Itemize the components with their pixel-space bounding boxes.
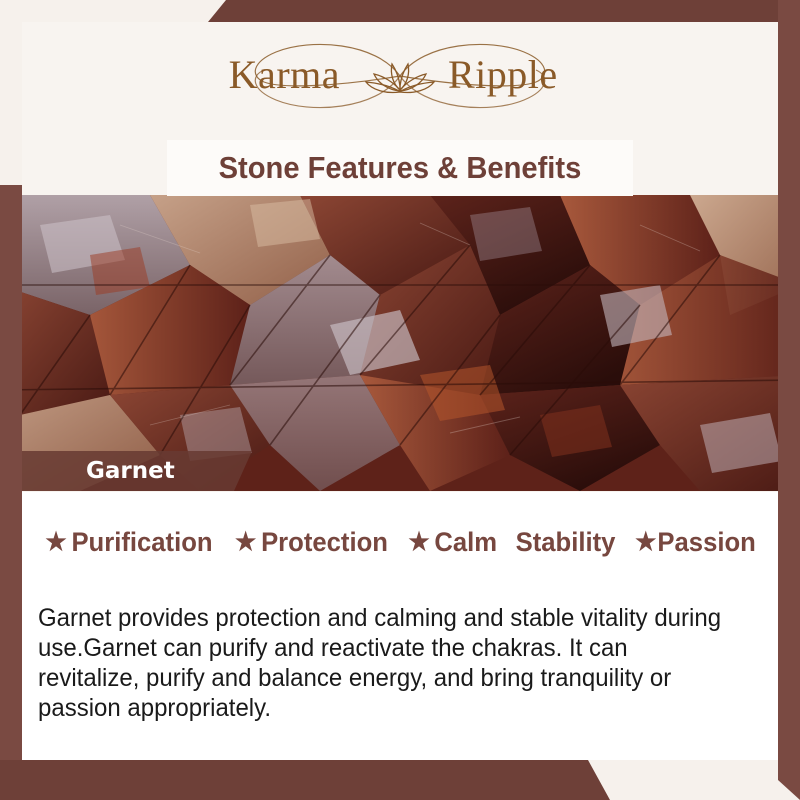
- logo-text-left: Karma: [229, 52, 340, 97]
- frame-top-bar: [0, 0, 800, 22]
- feature-label: Protection: [261, 527, 388, 558]
- feature-label: Purification: [71, 527, 212, 558]
- stone-photo: [0, 195, 800, 491]
- frame-bottom-bar: [0, 760, 800, 800]
- star-icon: ★: [635, 530, 656, 555]
- stone-photo-graphic: [0, 195, 800, 491]
- stone-description: Garnet provides protection and calming a…: [38, 603, 725, 723]
- feature-list: ★ Purification ★ Protection ★ Calm ★ Sta…: [22, 527, 778, 558]
- feature-item-protection: ★ Protection: [235, 527, 388, 558]
- lotus-icon: [366, 64, 434, 93]
- stone-benefits-infographic: Karma Ripple Stone Features & Benefits: [0, 0, 800, 800]
- star-icon: ★: [408, 530, 429, 555]
- feature-label: Stability: [516, 527, 616, 558]
- feature-item-purification: ★ Purification: [45, 527, 212, 558]
- brand-logo: Karma Ripple: [0, 26, 800, 126]
- star-icon: ★: [235, 530, 256, 555]
- feature-item-stability: ★ Stability: [516, 527, 616, 558]
- title-banner: Stone Features & Benefits: [167, 140, 633, 196]
- frame-right-bar: [778, 0, 800, 800]
- stone-name-band: Garnet: [22, 451, 252, 491]
- frame-left-bar: [0, 185, 22, 800]
- page-title: Stone Features & Benefits: [219, 150, 582, 186]
- feature-item-calm: ★ Calm: [408, 527, 497, 558]
- feature-label: Passion: [658, 527, 756, 558]
- logo-svg: Karma Ripple: [190, 28, 610, 124]
- star-icon: ★: [45, 530, 66, 555]
- feature-item-passion: ★ Passion: [635, 527, 756, 558]
- logo-text-right: Ripple: [448, 52, 558, 97]
- feature-label: Calm: [434, 527, 497, 558]
- stone-name: Garnet: [86, 458, 175, 484]
